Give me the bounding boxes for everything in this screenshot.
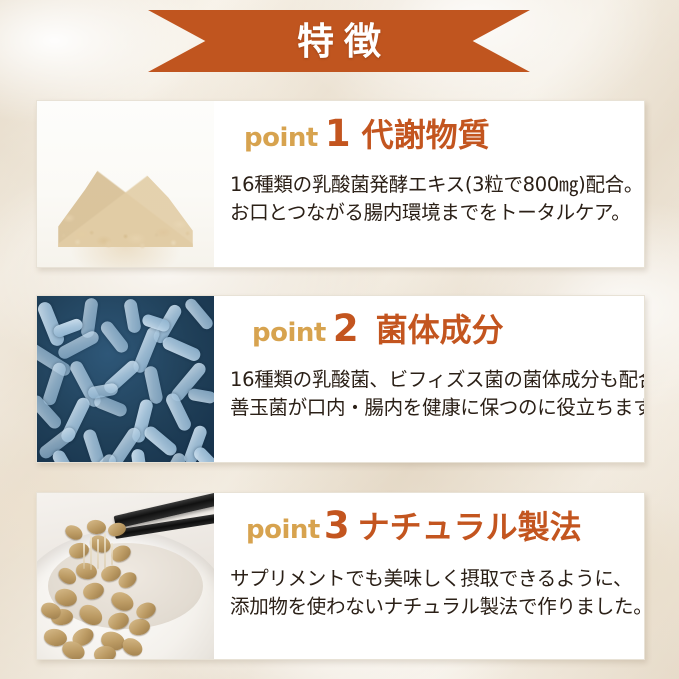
point-1-label: point <box>244 125 318 151</box>
natto-strand <box>83 543 85 569</box>
point-1-content: point 1 代謝物質 16種類の乳酸菌発酵エキス(3粒で800㎎)配合。 お… <box>214 101 645 267</box>
point-2-description: 16種類の乳酸菌、ビフィズス菌の菌体成分も配合。 善玉菌が口内・腸内を健康に保つ… <box>230 366 645 421</box>
point-3-label: point <box>246 517 320 543</box>
ribbon-shape: 特徴 <box>148 10 530 72</box>
bacteria-rod <box>142 424 179 458</box>
natto-bowl-chopsticks-photo <box>37 493 214 659</box>
bacteria-rod <box>183 296 214 331</box>
bacteria-rod <box>123 298 142 334</box>
bacteria-rod <box>161 335 203 363</box>
point-3-number: 3 <box>324 507 350 544</box>
point-3-image <box>37 493 214 659</box>
bacteria-rod <box>187 388 214 405</box>
point-2-label: point <box>252 320 326 346</box>
bacteria-rod <box>81 428 104 462</box>
point-2-image <box>37 296 214 462</box>
lactobacillus-micrograph-photo <box>37 296 214 462</box>
bacteria-rod <box>98 319 130 355</box>
point-card-3: point 3 ナチュラル製法 サプリメントでも美味しく摂取できるように、 添加… <box>36 492 645 660</box>
point-1-desc-line-2: お口とつながる腸内環境までをトータルケア。 <box>230 199 643 227</box>
bacteria-rod <box>41 361 67 407</box>
natto-strand <box>90 536 92 570</box>
point-2-content: point 2 菌体成分 16種類の乳酸菌、ビフィズス菌の菌体成分も配合。 善玉… <box>214 296 645 462</box>
point-card-2: point 2 菌体成分 16種類の乳酸菌、ビフィズス菌の菌体成分も配合。 善玉… <box>36 295 645 463</box>
natto-strand <box>104 533 106 569</box>
point-1-description: 16種類の乳酸菌発酵エキス(3粒で800㎎)配合。 お口とつながる腸内環境までを… <box>230 171 643 226</box>
point-3-desc-line-1: サプリメントでも美味しく摂取できるように、 <box>230 565 645 593</box>
natto-strand <box>97 539 99 569</box>
bacteria-rod <box>130 448 148 462</box>
point-1-number: 1 <box>325 115 351 152</box>
point-3-title: ナチュラル製法 <box>358 511 582 543</box>
point-1-heading: point 1 代謝物質 <box>230 115 643 159</box>
point-2-desc-line-1: 16種類の乳酸菌、ビフィズス菌の菌体成分も配合。 <box>230 366 645 394</box>
point-2-desc-line-2: 善玉菌が口内・腸内を健康に保つのに役立ちます。 <box>230 394 645 422</box>
header-ribbon: 特徴 <box>148 10 530 72</box>
point-2-heading: point 2 菌体成分 <box>230 310 645 354</box>
point-1-title: 代謝物質 <box>362 119 490 151</box>
point-2-number: 2 <box>333 310 359 347</box>
beige-powder-photo <box>37 101 214 267</box>
point-3-content: point 3 ナチュラル製法 サプリメントでも美味しく摂取できるように、 添加… <box>214 493 645 659</box>
point-3-desc-line-2: 添加物を使わないナチュラル製法で作りました。 <box>230 593 645 621</box>
natto-bean <box>86 519 106 535</box>
point-2-title: 菌体成分 <box>376 314 504 346</box>
point-card-1: point 1 代謝物質 16種類の乳酸菌発酵エキス(3粒で800㎎)配合。 お… <box>36 100 645 268</box>
point-3-description: サプリメントでも美味しく摂取できるように、 添加物を使わないナチュラル製法で作り… <box>230 565 645 620</box>
page-title: 特徴 <box>287 23 391 60</box>
point-1-image <box>37 101 214 267</box>
point-1-desc-line-1: 16種類の乳酸菌発酵エキス(3粒で800㎎)配合。 <box>230 171 643 199</box>
point-3-heading: point 3 ナチュラル製法 <box>230 507 645 551</box>
